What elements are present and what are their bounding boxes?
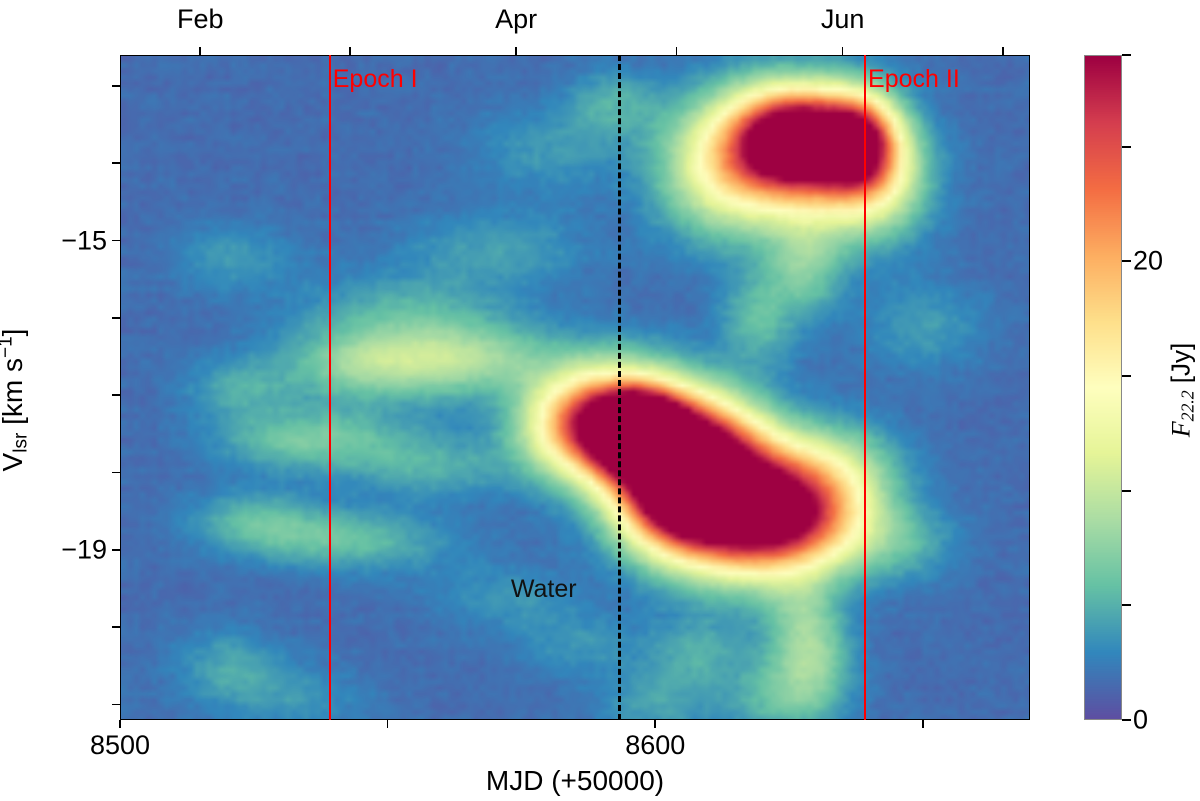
y-tick-major: [112, 240, 120, 242]
x-tick-minor: [387, 720, 389, 728]
y-axis-label-sub: lsr: [11, 433, 32, 453]
top-tick: [842, 47, 844, 55]
colorbar-axes: [1084, 55, 1122, 720]
x-tick-minor: [922, 720, 924, 728]
y-axis-label-sup: −1: [0, 336, 16, 358]
x-axis-label-main: MJD (: [486, 765, 561, 796]
colorbar-image: [1085, 56, 1121, 719]
figure-canvas: Epoch I Epoch II Water 85008600FebAprJun…: [0, 0, 1200, 801]
top-tick-label: Feb: [177, 6, 224, 33]
top-tick-label: Jun: [821, 6, 865, 33]
epoch-1-label: Epoch I: [333, 67, 418, 92]
colorbar-tick-minor: [1122, 54, 1131, 56]
heatmap-axes: [120, 55, 1030, 720]
colorbar-tick-major: [1122, 719, 1131, 721]
x-tick-label: 8600: [625, 732, 685, 759]
top-tick: [1002, 47, 1004, 55]
y-tick-label: −15: [61, 227, 107, 254]
colorbar-tick-minor: [1122, 490, 1131, 492]
x-tick-major: [119, 720, 121, 728]
colorbar-label-unit: [Jy]: [1165, 343, 1195, 391]
epoch-2-line: [864, 55, 866, 720]
y-tick-major: [112, 549, 120, 551]
epoch-2-label: Epoch II: [868, 67, 960, 92]
water-label: Water: [511, 577, 577, 602]
y-axis-label-v: V: [0, 453, 28, 472]
y-tick-minor: [112, 626, 120, 628]
top-tick: [515, 47, 517, 55]
colorbar-label-sub: 22.2: [1178, 390, 1198, 421]
y-tick-minor: [112, 162, 120, 164]
x-axis-label-close: ): [655, 765, 664, 796]
x-axis-label: MJD (+50000): [486, 765, 664, 797]
top-tick: [349, 47, 351, 55]
y-axis-label-unit: [km s: [0, 358, 28, 433]
top-tick: [199, 47, 201, 55]
top-tick-label: Apr: [495, 6, 537, 33]
colorbar-tick-major: [1122, 260, 1131, 262]
colorbar-label: F22.2 [Jy]: [1165, 343, 1198, 438]
epoch-1-line: [329, 55, 331, 720]
x-tick-label: 8500: [90, 732, 150, 759]
y-axis-label-close: ]: [0, 329, 28, 337]
y-tick-minor: [112, 472, 120, 474]
water-line: [618, 55, 621, 720]
y-tick-minor: [112, 317, 120, 319]
top-tick: [676, 47, 678, 55]
y-tick-minor: [112, 704, 120, 706]
colorbar-tick-label: 0: [1133, 707, 1148, 734]
colorbar-tick-minor: [1122, 375, 1131, 377]
colorbar-tick-minor: [1122, 604, 1131, 606]
y-tick-minor: [112, 394, 120, 396]
colorbar-tick-label: 20: [1133, 248, 1163, 275]
x-tick-major: [654, 720, 656, 728]
colorbar-label-f: F: [1166, 421, 1195, 437]
y-tick-minor: [112, 85, 120, 87]
heatmap-image: [121, 56, 1030, 720]
x-axis-label-plus: +50000: [561, 765, 655, 796]
y-tick-label: −19: [61, 536, 107, 563]
colorbar-tick-minor: [1122, 146, 1131, 148]
y-axis-label: Vlsr [km s−1]: [0, 329, 33, 472]
